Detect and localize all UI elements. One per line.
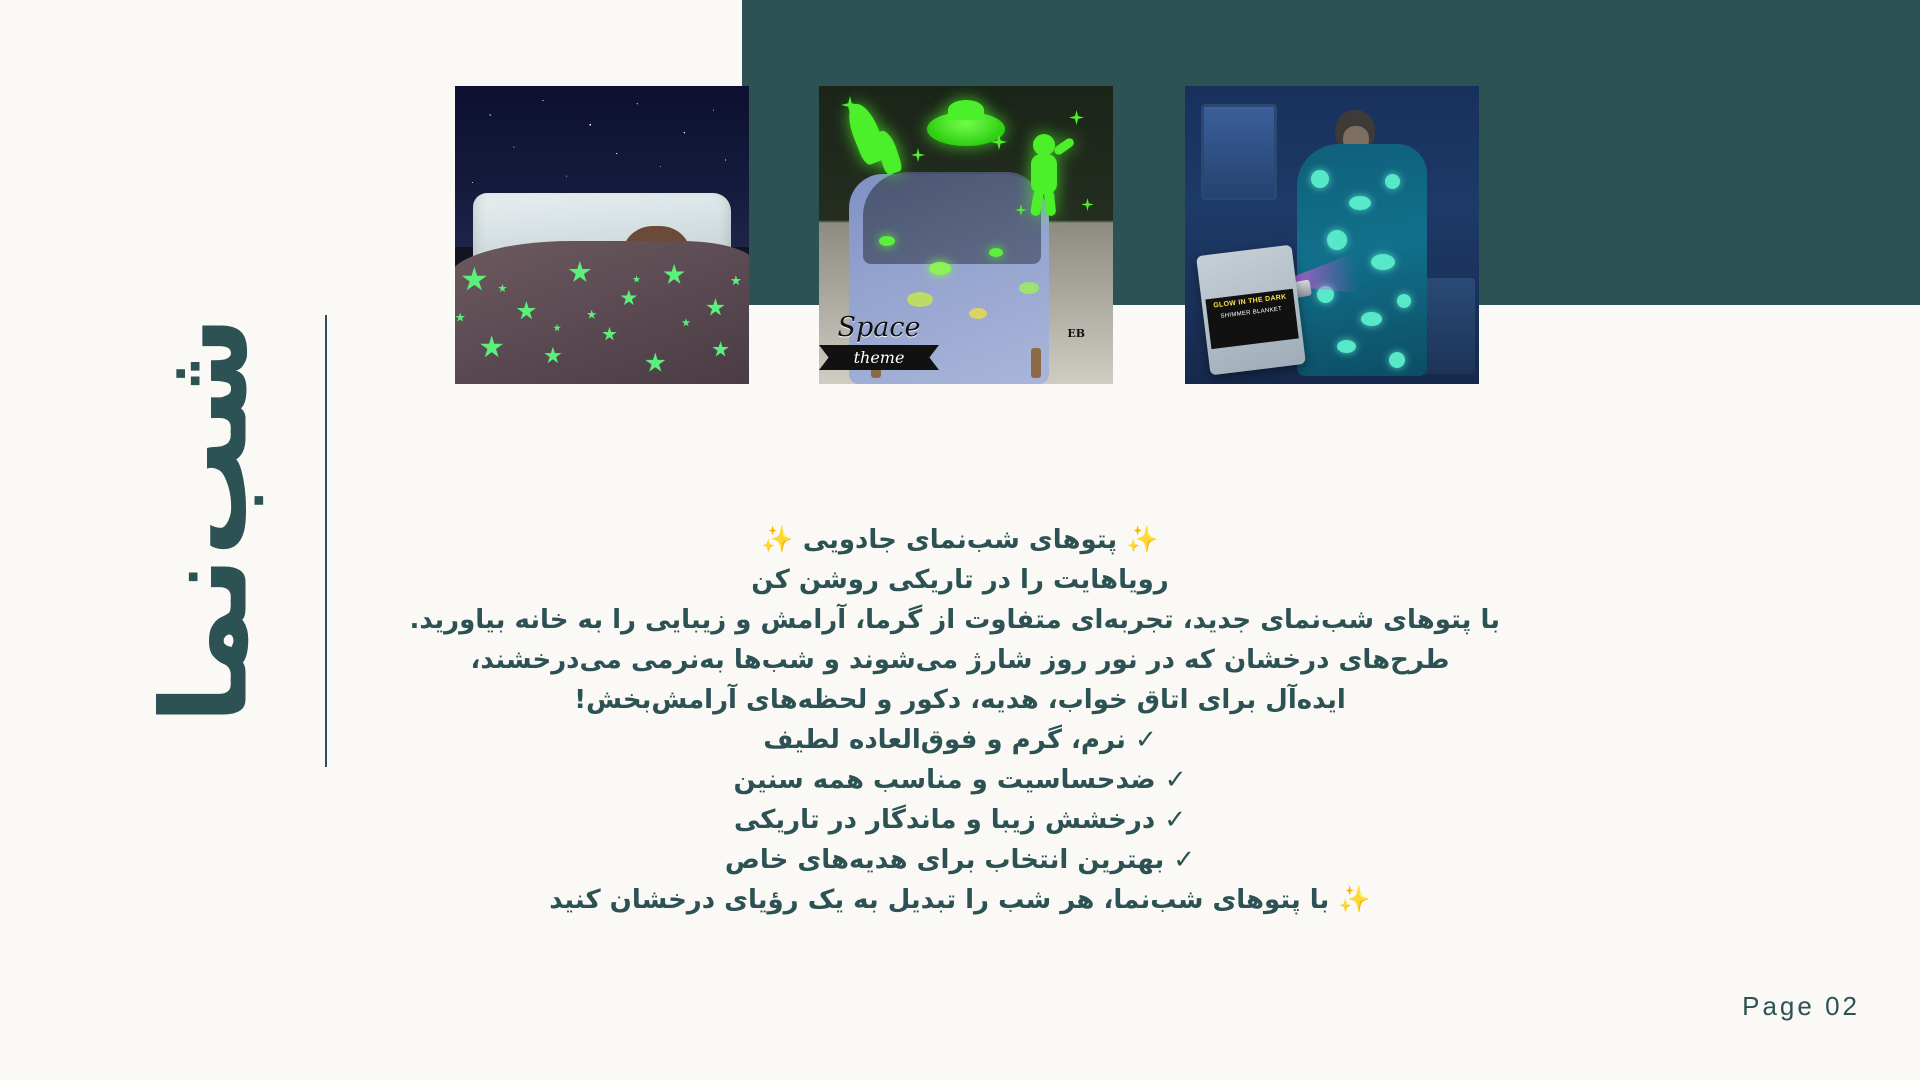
- blanket-package: GLOW IN THE DARK SHIMMER BLANKET: [1196, 245, 1306, 376]
- gallery-image-kid-flashlight[interactable]: GLOW IN THE DARK SHIMMER BLANKET: [1185, 86, 1479, 384]
- copy-line-5: ایده‌آل برای اتاق خواب، هدیه، دکور و لحظ…: [420, 680, 1500, 720]
- feature-item-soft: ✓ نرم، گرم و فوق‌العاده لطیف: [420, 720, 1500, 760]
- copy-line-closing-text: با پتوهای شب‌نما، هر شب را تبدیل به یک ر…: [549, 885, 1338, 915]
- package-label: GLOW IN THE DARK SHIMMER BLANKET: [1205, 289, 1298, 349]
- body-copy: ✨ پتوهای شب‌نمای جادویی ✨ رویاهایت را در…: [420, 520, 1500, 920]
- gallery-image-space-theme[interactable]: Space theme EB: [819, 86, 1113, 384]
- glow-spot: [929, 262, 951, 275]
- gallery-image-child-sleeping[interactable]: [455, 86, 749, 384]
- package-subtitle-text: SHIMMER BLANKET: [1220, 306, 1282, 319]
- sparkle-icon: ✨: [1338, 885, 1370, 915]
- copy-line-1-text: پتوهای شب‌نمای جادویی: [794, 525, 1126, 555]
- glow-spot: [969, 308, 987, 319]
- feature-item-glow: ✓ درخشش زیبا و ماندگار در تاریکی: [420, 800, 1500, 840]
- chair-leg-right: [1031, 348, 1041, 378]
- sparkle-icon: ✨: [761, 525, 793, 555]
- glow-blanket-cape: [1297, 144, 1427, 376]
- glow-astronaut-head-icon: [1033, 134, 1055, 156]
- sparkle-icon: ✨: [1126, 525, 1158, 555]
- copy-line-4: طرح‌های درخشان که در نور روز شارژ می‌شون…: [420, 640, 1500, 680]
- window: [1201, 104, 1277, 200]
- glow-spot: [989, 248, 1003, 257]
- vertical-divider-rule: [325, 315, 327, 767]
- glow-ufo-dome-icon: [948, 100, 984, 120]
- space-theme-tag: Space theme: [819, 314, 939, 370]
- glow-spot: [1019, 282, 1039, 294]
- tag-title-text: Space: [819, 314, 939, 341]
- copy-line-2: رویاهایت را در تاریکی روشن کن: [420, 560, 1500, 600]
- feature-item-hypoallergenic: ✓ ضدحساسیت و مناسب همه سنین: [420, 760, 1500, 800]
- copy-line-1: ✨ پتوهای شب‌نمای جادویی ✨: [420, 520, 1500, 560]
- glow-spot: [907, 292, 933, 307]
- glow-astronaut-body-icon: [1031, 154, 1057, 194]
- page-title-wrapper: شب‌نما: [0, 240, 300, 800]
- feature-item-gift: ✓ بهترین انتخاب برای هدیه‌های خاص: [420, 840, 1500, 880]
- draped-blanket-top: [863, 172, 1041, 264]
- product-image-gallery: Space theme EB GLOW IN THE DARK: [455, 86, 1475, 384]
- copy-line-closing: ✨ با پتوهای شب‌نما، هر شب را تبدیل به یک…: [420, 880, 1500, 920]
- copy-line-3: با پتوهای شب‌نمای جدید، تجربه‌ای متفاوت …: [420, 600, 1500, 640]
- star-glow-blanket: [455, 241, 749, 384]
- page-number: Page 02: [1742, 991, 1860, 1022]
- page-title: شب‌نما: [145, 316, 263, 725]
- tag-subtitle-text: theme: [819, 345, 939, 370]
- watermark-eb: EB: [1067, 327, 1085, 340]
- glow-spot: [879, 236, 895, 246]
- teal-accent-block-right: [1852, 0, 1920, 305]
